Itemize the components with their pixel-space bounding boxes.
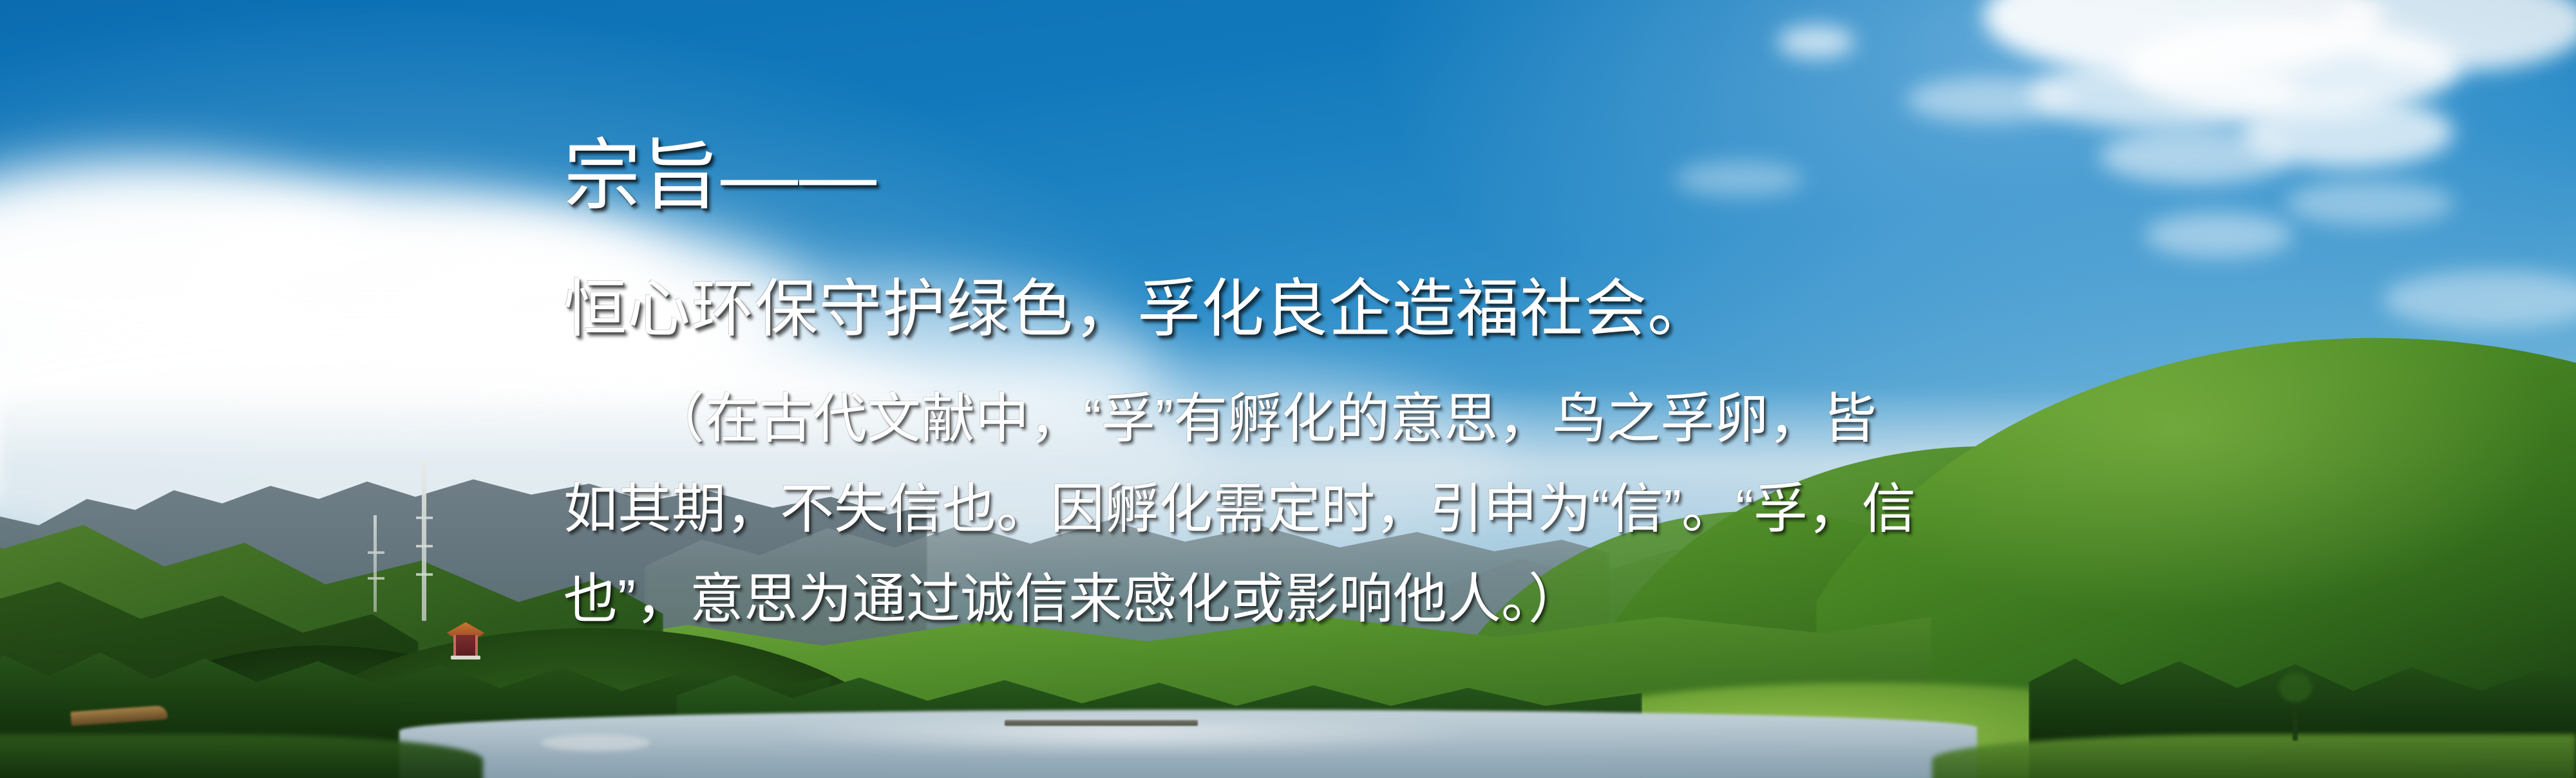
mast-arm [368,551,384,554]
cloud-shape [1906,77,2074,122]
cloud-shape [2145,213,2293,258]
cloud-shape [2286,180,2454,225]
mast-arm [368,577,384,580]
mast-arm [416,545,433,547]
pavilion-post [453,635,456,657]
cloud-shape [1777,26,1855,58]
solitary-tree [2293,689,2298,741]
antenna-mast-secondary-icon [374,515,377,612]
mast-arm [416,517,433,519]
red-pavilion [447,622,484,659]
pavilion-base [451,656,480,659]
cloud-shape [2099,129,2293,184]
pavilion-roof [447,622,484,636]
cloud-shape [1674,161,1803,196]
antenna-mast-icon [422,460,426,621]
mission-banner: 宗旨—— 恒心环保守护绿色，孚化良企造福社会。 （在古代文献中，“孚”有孵化的意… [0,0,2576,778]
pavilion-body [455,635,477,656]
mast-arm [416,573,433,576]
pavilion-post [475,635,478,657]
lake-dock [1005,720,1198,726]
shore-rock [541,734,650,751]
